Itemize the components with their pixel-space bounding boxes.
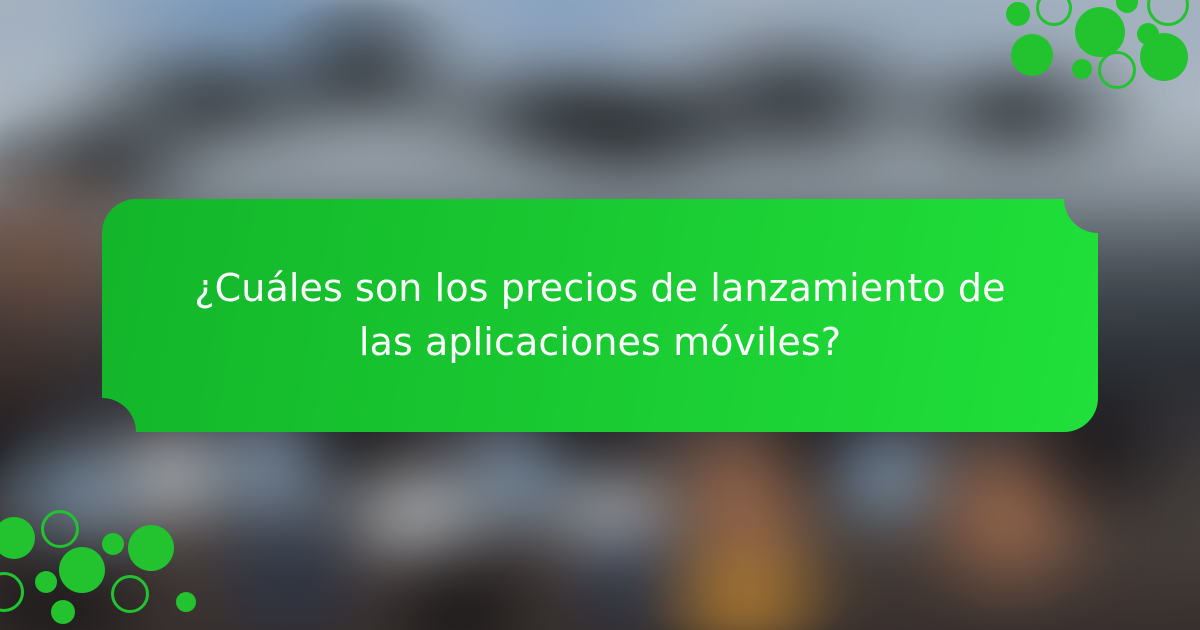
decorative-circle bbox=[51, 600, 75, 624]
decorative-dots-bottom-left bbox=[0, 520, 210, 630]
decorative-circle bbox=[111, 575, 149, 613]
decorative-circle bbox=[176, 592, 196, 612]
decorative-circle bbox=[1098, 51, 1136, 89]
screenshot-canvas: ¿Cuáles son los precios de lanzamiento d… bbox=[0, 0, 1200, 630]
decorative-circle bbox=[41, 510, 79, 548]
decorative-circle bbox=[1075, 7, 1125, 57]
decorative-circle bbox=[1140, 33, 1188, 81]
decorative-circle bbox=[128, 525, 174, 571]
question-text: ¿Cuáles son los precios de lanzamiento d… bbox=[170, 262, 1030, 370]
decorative-circle bbox=[102, 533, 124, 555]
decorative-dots-top-right bbox=[990, 0, 1200, 110]
decorative-circle bbox=[1006, 2, 1030, 26]
decorative-circle bbox=[1072, 59, 1092, 79]
decorative-circle bbox=[1011, 34, 1053, 76]
decorative-circle bbox=[1036, 0, 1072, 26]
question-card: ¿Cuáles son los precios de lanzamiento d… bbox=[102, 199, 1098, 432]
decorative-circle bbox=[1147, 0, 1189, 26]
decorative-circle bbox=[0, 572, 24, 612]
decorative-circle bbox=[0, 517, 35, 559]
decorative-circle bbox=[35, 571, 57, 593]
decorative-circle bbox=[1116, 0, 1138, 13]
decorative-circle bbox=[59, 547, 105, 593]
